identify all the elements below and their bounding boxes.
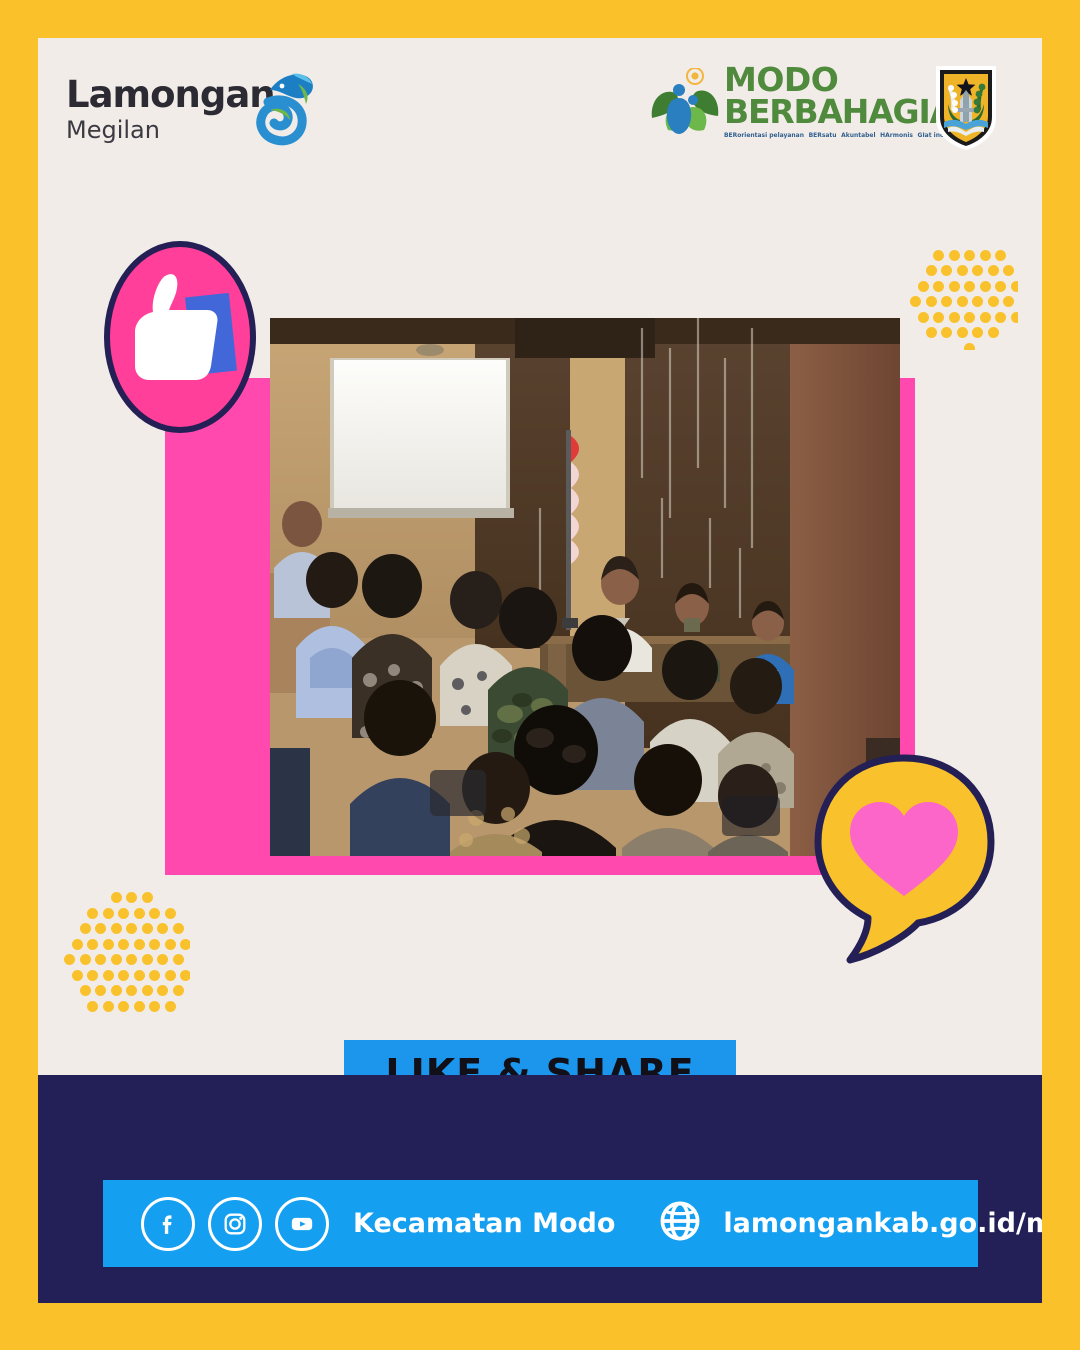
footer-contact-bar: Kecamatan Modo lamongankab.go.id/modo [103, 1180, 978, 1267]
website-url: lamongankab.go.id/modo [723, 1208, 1042, 1239]
dot-cluster-top-right [906, 230, 1018, 350]
fish-wave-icon [240, 62, 318, 147]
lamongan-logo-subtitle: Megilan [66, 118, 241, 142]
instagram-icon[interactable] [208, 1197, 262, 1251]
lamongan-logo: Lamongan Megilan [62, 62, 312, 157]
social-icon-group [141, 1197, 329, 1251]
modo-logo-text: MODO BERBAHAGIA BERorientasi pelayanan B… [724, 64, 928, 138]
modo-logo-tagline: BERorientasi pelayanan BERsatu Akuntabel… [724, 132, 912, 139]
modo-logo-line2: BERBAHAGIA [724, 96, 928, 128]
modo-berbahagia-logo: MODO BERBAHAGIA BERorientasi pelayanan B… [648, 58, 928, 158]
footer: Kecamatan Modo lamongankab.go.id/modo [38, 1075, 1042, 1303]
modo-tagline-word: BERorientasi pelayanan [724, 132, 804, 139]
meeting-photo [270, 318, 900, 856]
facebook-icon[interactable] [141, 1197, 195, 1251]
modo-tagline-word: Akuntabel [841, 132, 875, 139]
modo-tagline-word: BERsatu [809, 132, 837, 139]
lamongan-regency-crest-icon [930, 60, 1002, 154]
globe-icon [657, 1198, 703, 1249]
thumbs-up-badge [103, 240, 258, 440]
lamongan-logo-text: Lamongan Megilan [66, 76, 241, 142]
modo-tagline-word: HArmonis [880, 132, 913, 139]
youtube-icon[interactable] [275, 1197, 329, 1251]
lamongan-logo-title: Lamongan [66, 76, 241, 113]
social-handle: Kecamatan Modo [353, 1208, 615, 1239]
leaf-person-icon [648, 68, 722, 142]
poster-canvas: Lamongan Megilan [0, 0, 1080, 1350]
heart-speech-bubble-badge [812, 752, 997, 967]
website-group[interactable]: lamongankab.go.id/modo [657, 1198, 1042, 1249]
dot-cluster-bottom-left [60, 888, 190, 1016]
